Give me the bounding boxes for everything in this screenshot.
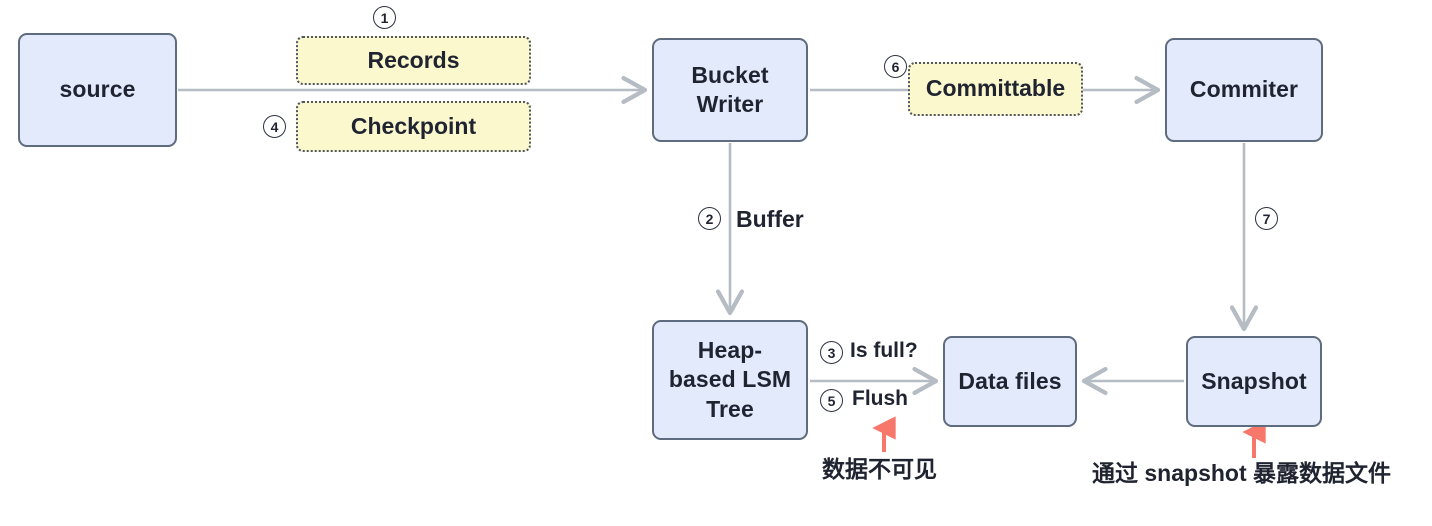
node-records[interactable]: Records xyxy=(296,36,531,85)
annotation-snapshot-exposes-files: 通过 snapshot 暴露数据文件 xyxy=(1092,462,1391,485)
edge-label-flush: Flush xyxy=(852,388,908,409)
step-marker-2-icon: 2 xyxy=(698,207,721,230)
step-marker-1-icon: 1 xyxy=(373,6,396,29)
node-heap-based-lsm-tree[interactable]: Heap- based LSM Tree xyxy=(652,320,808,440)
node-data-files[interactable]: Data files xyxy=(943,336,1077,427)
node-snapshot[interactable]: Snapshot xyxy=(1186,336,1322,427)
node-bucket-writer[interactable]: Bucket Writer xyxy=(652,38,808,142)
edge-label-buffer: Buffer xyxy=(736,208,804,231)
node-checkpoint[interactable]: Checkpoint xyxy=(296,101,531,152)
edge-label-is-full: Is full? xyxy=(850,340,918,361)
step-marker-7-icon: 7 xyxy=(1255,207,1278,230)
diagram-canvas: source Records Checkpoint Bucket Writer … xyxy=(0,0,1432,526)
node-committable[interactable]: Committable xyxy=(908,62,1083,116)
step-marker-5-icon: 5 xyxy=(820,389,843,412)
annotation-data-invisible: 数据不可见 xyxy=(822,458,937,481)
step-marker-6-icon: 6 xyxy=(884,55,907,78)
node-commiter[interactable]: Commiter xyxy=(1165,38,1323,142)
node-source[interactable]: source xyxy=(18,33,177,147)
step-marker-4-icon: 4 xyxy=(263,115,286,138)
step-marker-3-icon: 3 xyxy=(820,341,843,364)
